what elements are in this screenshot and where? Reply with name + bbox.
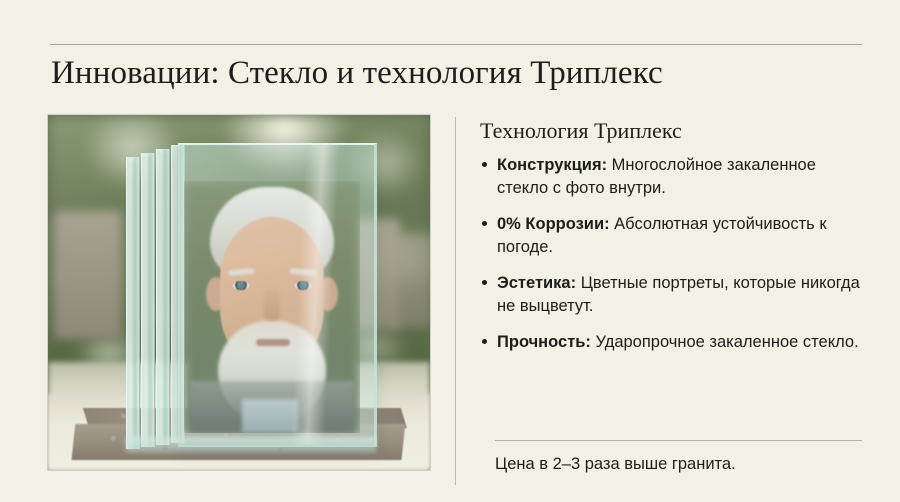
footer-note: Цена в 2–3 раза выше гранита.	[495, 452, 736, 476]
column-divider	[455, 117, 456, 485]
photo-canvas	[48, 115, 430, 470]
bullet-dot-icon	[482, 339, 487, 344]
glass-bottom-edge	[126, 437, 376, 453]
list-item-lead: Эстетика:	[497, 274, 576, 292]
bullet-dot-icon	[482, 162, 487, 167]
tombstone-icon	[54, 211, 122, 339]
list-item-lead: 0% Коррозии:	[497, 215, 610, 233]
portrait-photo	[184, 181, 360, 433]
feature-list: Конструкция: Многослойное закаленное сте…	[480, 154, 862, 354]
list-item: Конструкция: Многослойное закаленное сте…	[480, 154, 862, 200]
bullet-dot-icon	[482, 221, 487, 226]
eye-shape	[295, 281, 311, 290]
list-item: Прочность: Ударопрочное закаленное стекл…	[480, 331, 862, 354]
glass-pane-edge	[141, 153, 155, 447]
memorial-photo	[48, 115, 430, 470]
list-item-text: Ударопрочное закаленное стекло.	[591, 333, 859, 351]
tombstone-icon	[392, 235, 430, 327]
glass-front-panel	[178, 143, 377, 447]
list-item: Эстетика: Цветные портреты, которые нико…	[480, 272, 862, 318]
nose-shape	[264, 289, 280, 323]
section-subtitle: Технология Триплекс	[480, 116, 682, 146]
list-item: 0% Коррозии: Абсолютная устойчивость к п…	[480, 213, 862, 259]
list-item-lead: Конструкция:	[497, 156, 607, 174]
footer-divider	[495, 440, 862, 441]
shirt-shape	[242, 399, 298, 433]
page-title: Инновации: Стекло и технология Триплекс	[51, 52, 851, 94]
slide: Инновации: Стекло и технология Триплекс	[0, 0, 900, 502]
glass-pane-edge	[156, 149, 170, 445]
list-item-lead: Прочность:	[497, 333, 591, 351]
eye-shape	[233, 281, 249, 290]
glass-pane-edge	[126, 157, 140, 449]
title-divider	[50, 44, 862, 45]
mouth-shape	[256, 339, 290, 346]
bullet-dot-icon	[482, 280, 487, 285]
laminated-glass-block	[126, 143, 376, 443]
